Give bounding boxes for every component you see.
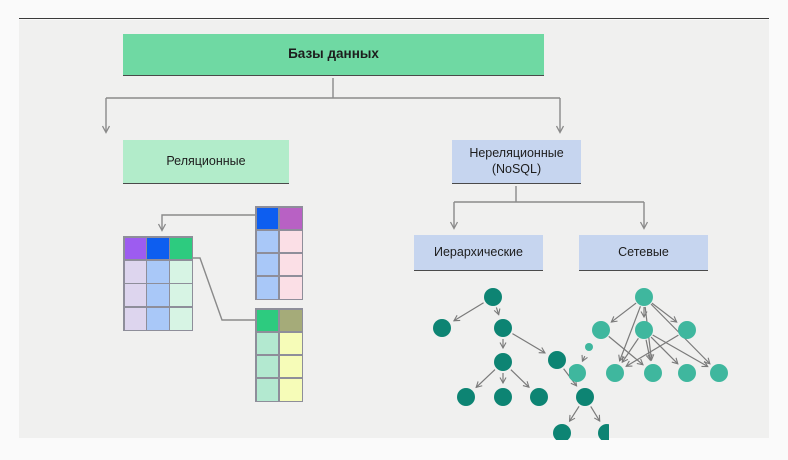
node-nosql-line1: Нереляционные [469,146,563,160]
table-cell [257,379,279,401]
table-cell [280,356,302,378]
graph-node [644,364,662,382]
graph-edge [582,356,584,361]
graph-edge [591,406,600,421]
graph-node [457,388,475,406]
graph-node [635,321,653,339]
table-cell [170,261,191,283]
table-cell [280,379,302,401]
graph-node [569,364,586,382]
relational-main-table [123,236,193,331]
graph-node [553,424,571,440]
graph-node [494,319,512,337]
graph-edge [609,336,643,364]
table-header-cell [257,310,279,332]
graph-edge [496,307,498,314]
graph-node [678,364,696,382]
graph-node [606,364,624,382]
table-header-cell [170,238,191,260]
table-cell [147,308,168,330]
graph-node [494,388,512,406]
node-nosql-line2: (NoSQL) [492,162,541,176]
node-relational[interactable]: Реляционные [123,140,289,184]
graph-node [710,364,728,382]
node-databases[interactable]: Базы данных [123,34,544,76]
graph-edge [611,303,636,322]
graph-node [592,321,610,339]
graph-edge [626,335,678,366]
graph-edge [476,370,495,388]
graph-node [433,319,451,337]
table-cell [257,277,279,299]
table-cell [280,254,302,276]
graph-node [598,424,609,440]
graph-node [530,388,548,406]
graph-node [678,321,696,339]
graph-node [635,288,653,306]
graph-edge [511,370,529,388]
node-network[interactable]: Сетевые [579,235,708,271]
graph-node [585,343,593,351]
table-cell [170,284,191,306]
table-cell [147,284,168,306]
table-cell [147,261,168,283]
graph-edge [454,303,484,321]
graph-edge [512,334,544,353]
diagram-panel: Базы данных Реляционные Нереляционные (N… [19,20,769,438]
table-header-cell [147,238,168,260]
node-nosql[interactable]: Нереляционные (NoSQL) [452,140,581,184]
table-cell [257,333,279,355]
relational-related-table-top [255,206,303,300]
table-header-cell [257,208,279,230]
relational-related-table-bottom [255,308,303,402]
node-hierarchical[interactable]: Иерархические [414,235,543,271]
table-cell [125,308,146,330]
graph-node [484,288,502,306]
graph-node [548,351,566,369]
table-cell [170,308,191,330]
diagram-page: Базы данных Реляционные Нереляционные (N… [0,0,788,460]
table-cell [125,261,146,283]
table-header-cell [280,208,302,230]
network-graph [569,285,729,395]
table-header-cell [125,238,146,260]
graph-edge [652,303,677,322]
table-header-cell [280,310,302,332]
graph-node [494,353,512,371]
header-divider [19,18,769,19]
table-cell [125,284,146,306]
table-cell [280,277,302,299]
table-cell [280,231,302,253]
table-cell [280,333,302,355]
table-cell [257,231,279,253]
table-cell [257,254,279,276]
graph-edge [570,406,580,421]
graph-edge [653,335,708,367]
table-cell [257,356,279,378]
